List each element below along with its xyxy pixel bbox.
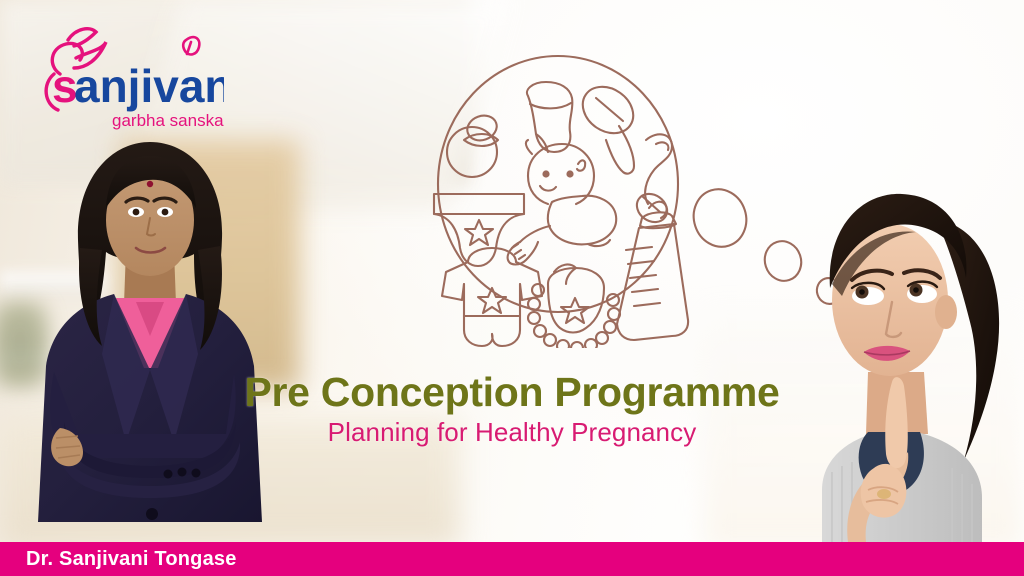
- rattle-icon: [574, 77, 642, 173]
- diaper-icon: [434, 194, 524, 266]
- brand-logo[interactable]: s anjivan garbha sanskar: [24, 18, 224, 136]
- poster-canvas: s anjivan garbha sanskar: [0, 0, 1024, 576]
- doctor-photo: [18, 122, 280, 542]
- thinker-ring: [877, 489, 891, 499]
- pacifier-icon: [447, 112, 500, 177]
- doctor-button-4: [146, 508, 158, 520]
- leaf-icon: [183, 37, 199, 54]
- bubble-dot-1: [686, 182, 753, 253]
- footer-bar: Dr. Sanjivani Tongase: [0, 542, 1024, 576]
- bead-necklace-icon: [528, 284, 620, 348]
- doctor-button-2: [178, 468, 187, 477]
- thinker-ear: [935, 295, 957, 329]
- thinker-ponytail: [944, 224, 999, 460]
- baby-sock-icon: [527, 82, 572, 152]
- doctor-button-1: [164, 470, 173, 479]
- thinking-woman-photo: [756, 172, 1024, 542]
- bubble-outline: [438, 56, 678, 312]
- bib-icon: [528, 265, 620, 348]
- logo-word-anjivan: anjivan: [74, 60, 224, 112]
- onesie-icon: [442, 248, 542, 346]
- presenter-name: Dr. Sanjivani Tongase: [26, 548, 237, 571]
- doctor-bindi: [147, 181, 153, 187]
- doctor-button-3: [192, 469, 201, 478]
